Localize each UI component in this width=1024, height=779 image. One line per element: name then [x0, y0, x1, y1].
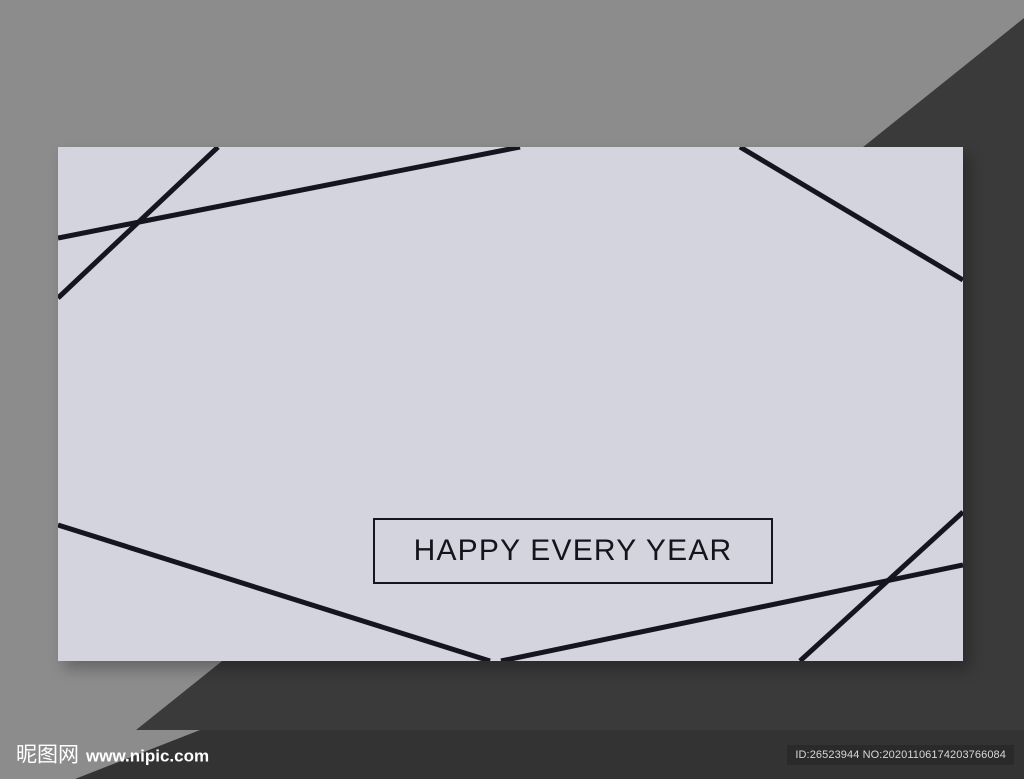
logo-chinese-text: 昵图网 — [16, 744, 79, 765]
logo-url-text: www.nipic.com — [86, 747, 209, 764]
card-line-top-left-shallow — [58, 147, 520, 238]
site-logo[interactable]: 昵图网 www.nipic.com — [16, 744, 209, 765]
card-line-top-left-steep — [58, 147, 218, 298]
card-line-top-right-diagonal — [740, 147, 963, 280]
card-line-bottom-right-steep — [800, 512, 963, 661]
image-id-badge: ID:26523944 NO:20201106174203766084 — [787, 745, 1014, 765]
poster-canvas: HAPPY EVERY YEAR 昵图网 www.nipic.com ID:26… — [0, 0, 1024, 779]
title-frame: HAPPY EVERY YEAR — [373, 518, 773, 584]
greeting-card: HAPPY EVERY YEAR — [58, 147, 963, 661]
page-title: HAPPY EVERY YEAR — [414, 534, 733, 568]
watermark-footer: 昵图网 www.nipic.com ID:26523944 NO:2020110… — [0, 730, 1024, 779]
